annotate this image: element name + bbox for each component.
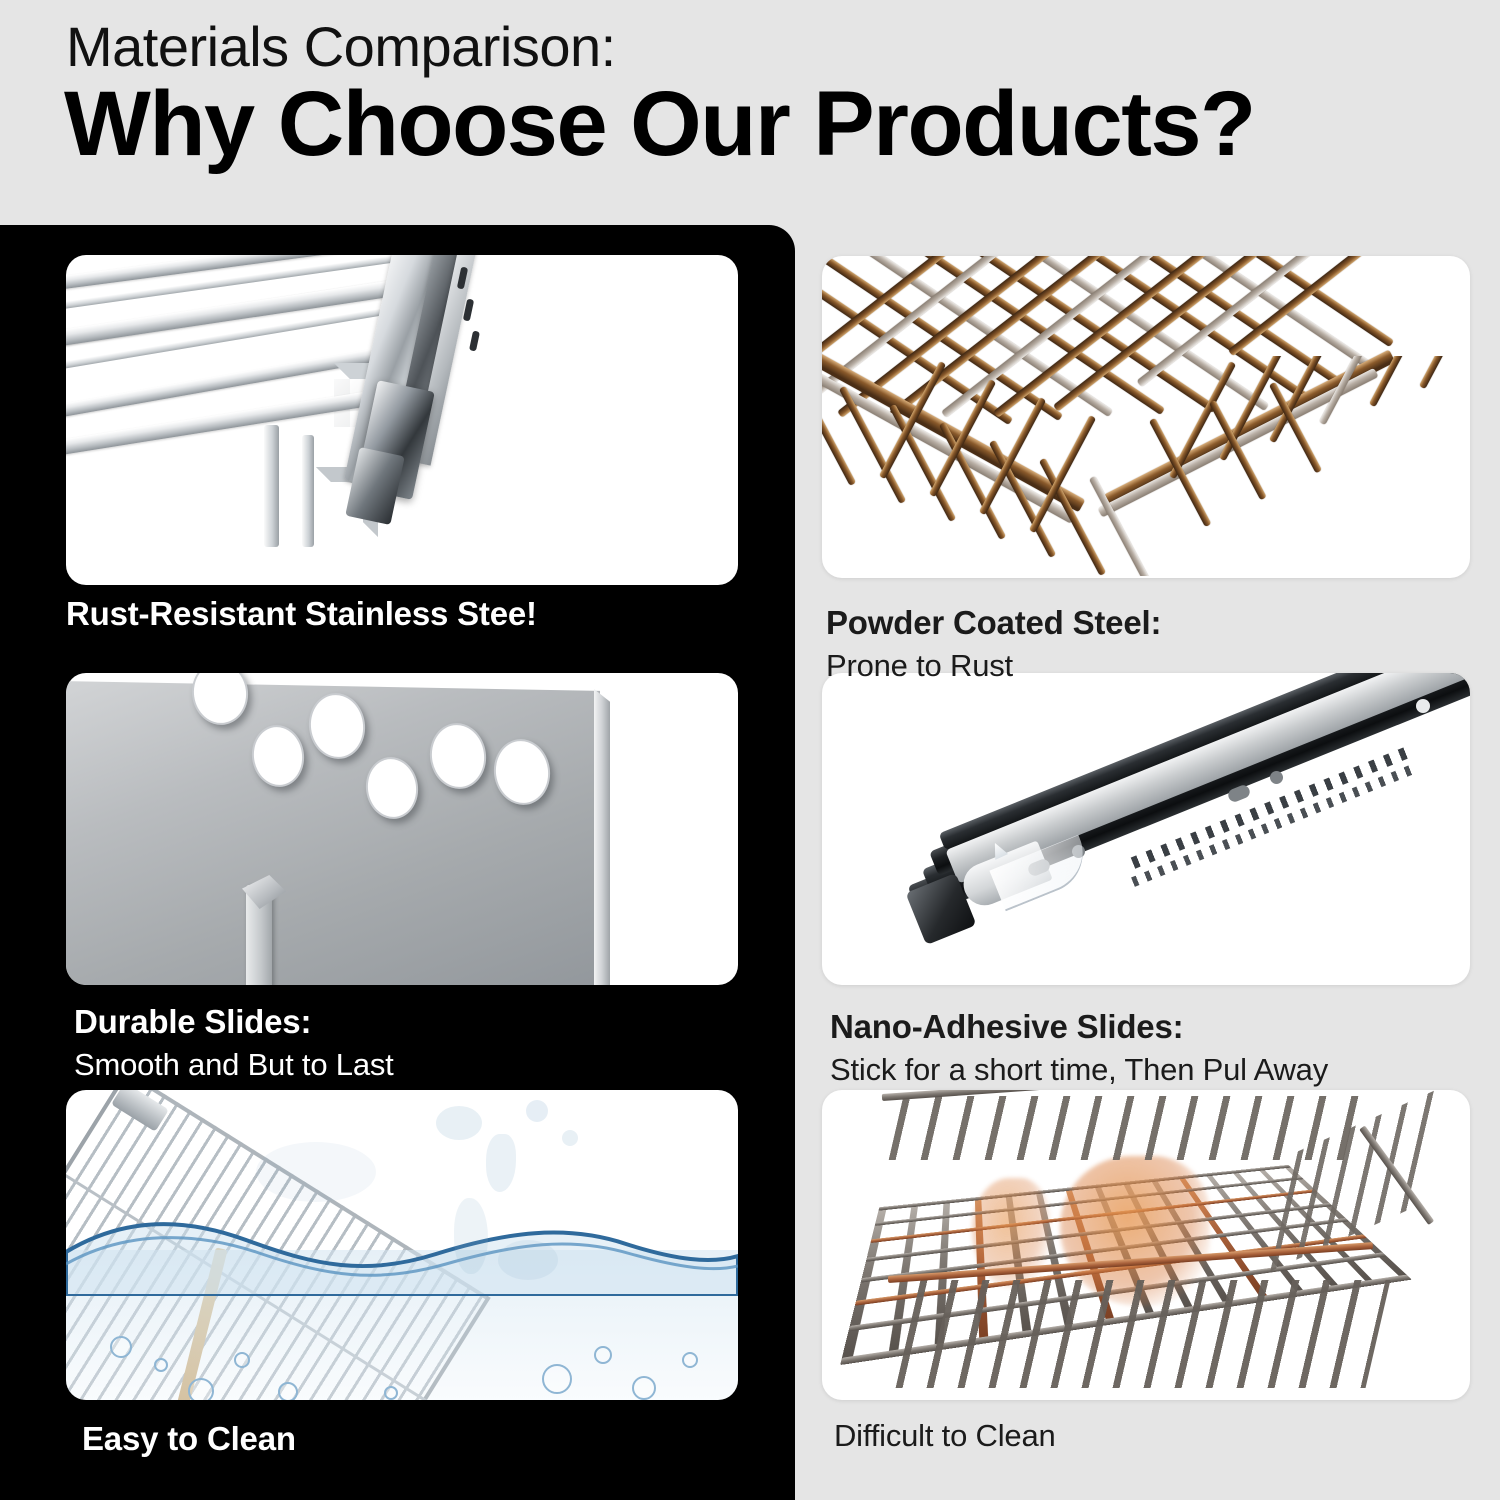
caption-durable-slides: Durable Slides: Smooth and But to Last [74, 1003, 394, 1083]
rusty-wire-basket-card[interactable] [822, 1090, 1470, 1400]
black-adhesive-slide-card[interactable] [822, 673, 1470, 985]
rusty-mesh-corner-card[interactable] [822, 256, 1470, 578]
caption-nano-adhesive-slides: Nano-Adhesive Slides: Stick for a short … [830, 1008, 1328, 1088]
caption-title: Nano-Adhesive Slides: [830, 1008, 1328, 1046]
rack-water-splash-photo [66, 1090, 738, 1400]
caption-difficult-to-clean: Difficult to Clean [834, 1418, 1056, 1454]
caption-powder-coated-steel: Powder Coated Steel: Prone to Rust [826, 604, 1161, 684]
caption-title: Powder Coated Steel: [826, 604, 1161, 642]
water-wave [66, 1206, 738, 1296]
header-banner: Materials Comparison: Why Choose Our Pro… [0, 0, 1500, 225]
caption-rust-resistant: Rust-Resistant Stainless Stee! [66, 595, 537, 633]
caption-subtitle: Prone to Rust [826, 648, 1161, 684]
page-title: Why Choose Our Products? [64, 72, 1255, 177]
caption-title: Easy to Clean [82, 1420, 296, 1458]
rusty-wire-basket-photo [822, 1090, 1470, 1400]
stainless-steel-rack-photo [66, 255, 738, 585]
caption-title: Durable Slides: [74, 1003, 394, 1041]
header-subtitle: Materials Comparison: [66, 14, 616, 79]
caption-subtitle: Smooth and But to Last [74, 1047, 394, 1083]
durable-slide-plate-card[interactable] [66, 673, 738, 985]
caption-title: Rust-Resistant Stainless Stee! [66, 595, 537, 633]
caption-easy-to-clean: Easy to Clean [82, 1420, 296, 1458]
black-adhesive-slide-photo [822, 673, 1470, 985]
rack-water-splash-card[interactable] [66, 1090, 738, 1400]
stainless-steel-rack-card[interactable] [66, 255, 738, 585]
caption-subtitle: Stick for a short time, Then Pul Away [830, 1052, 1328, 1088]
caption-title: Difficult to Clean [834, 1418, 1056, 1454]
rusty-mesh-corner-photo [822, 256, 1470, 578]
durable-slide-plate-photo [66, 673, 738, 985]
